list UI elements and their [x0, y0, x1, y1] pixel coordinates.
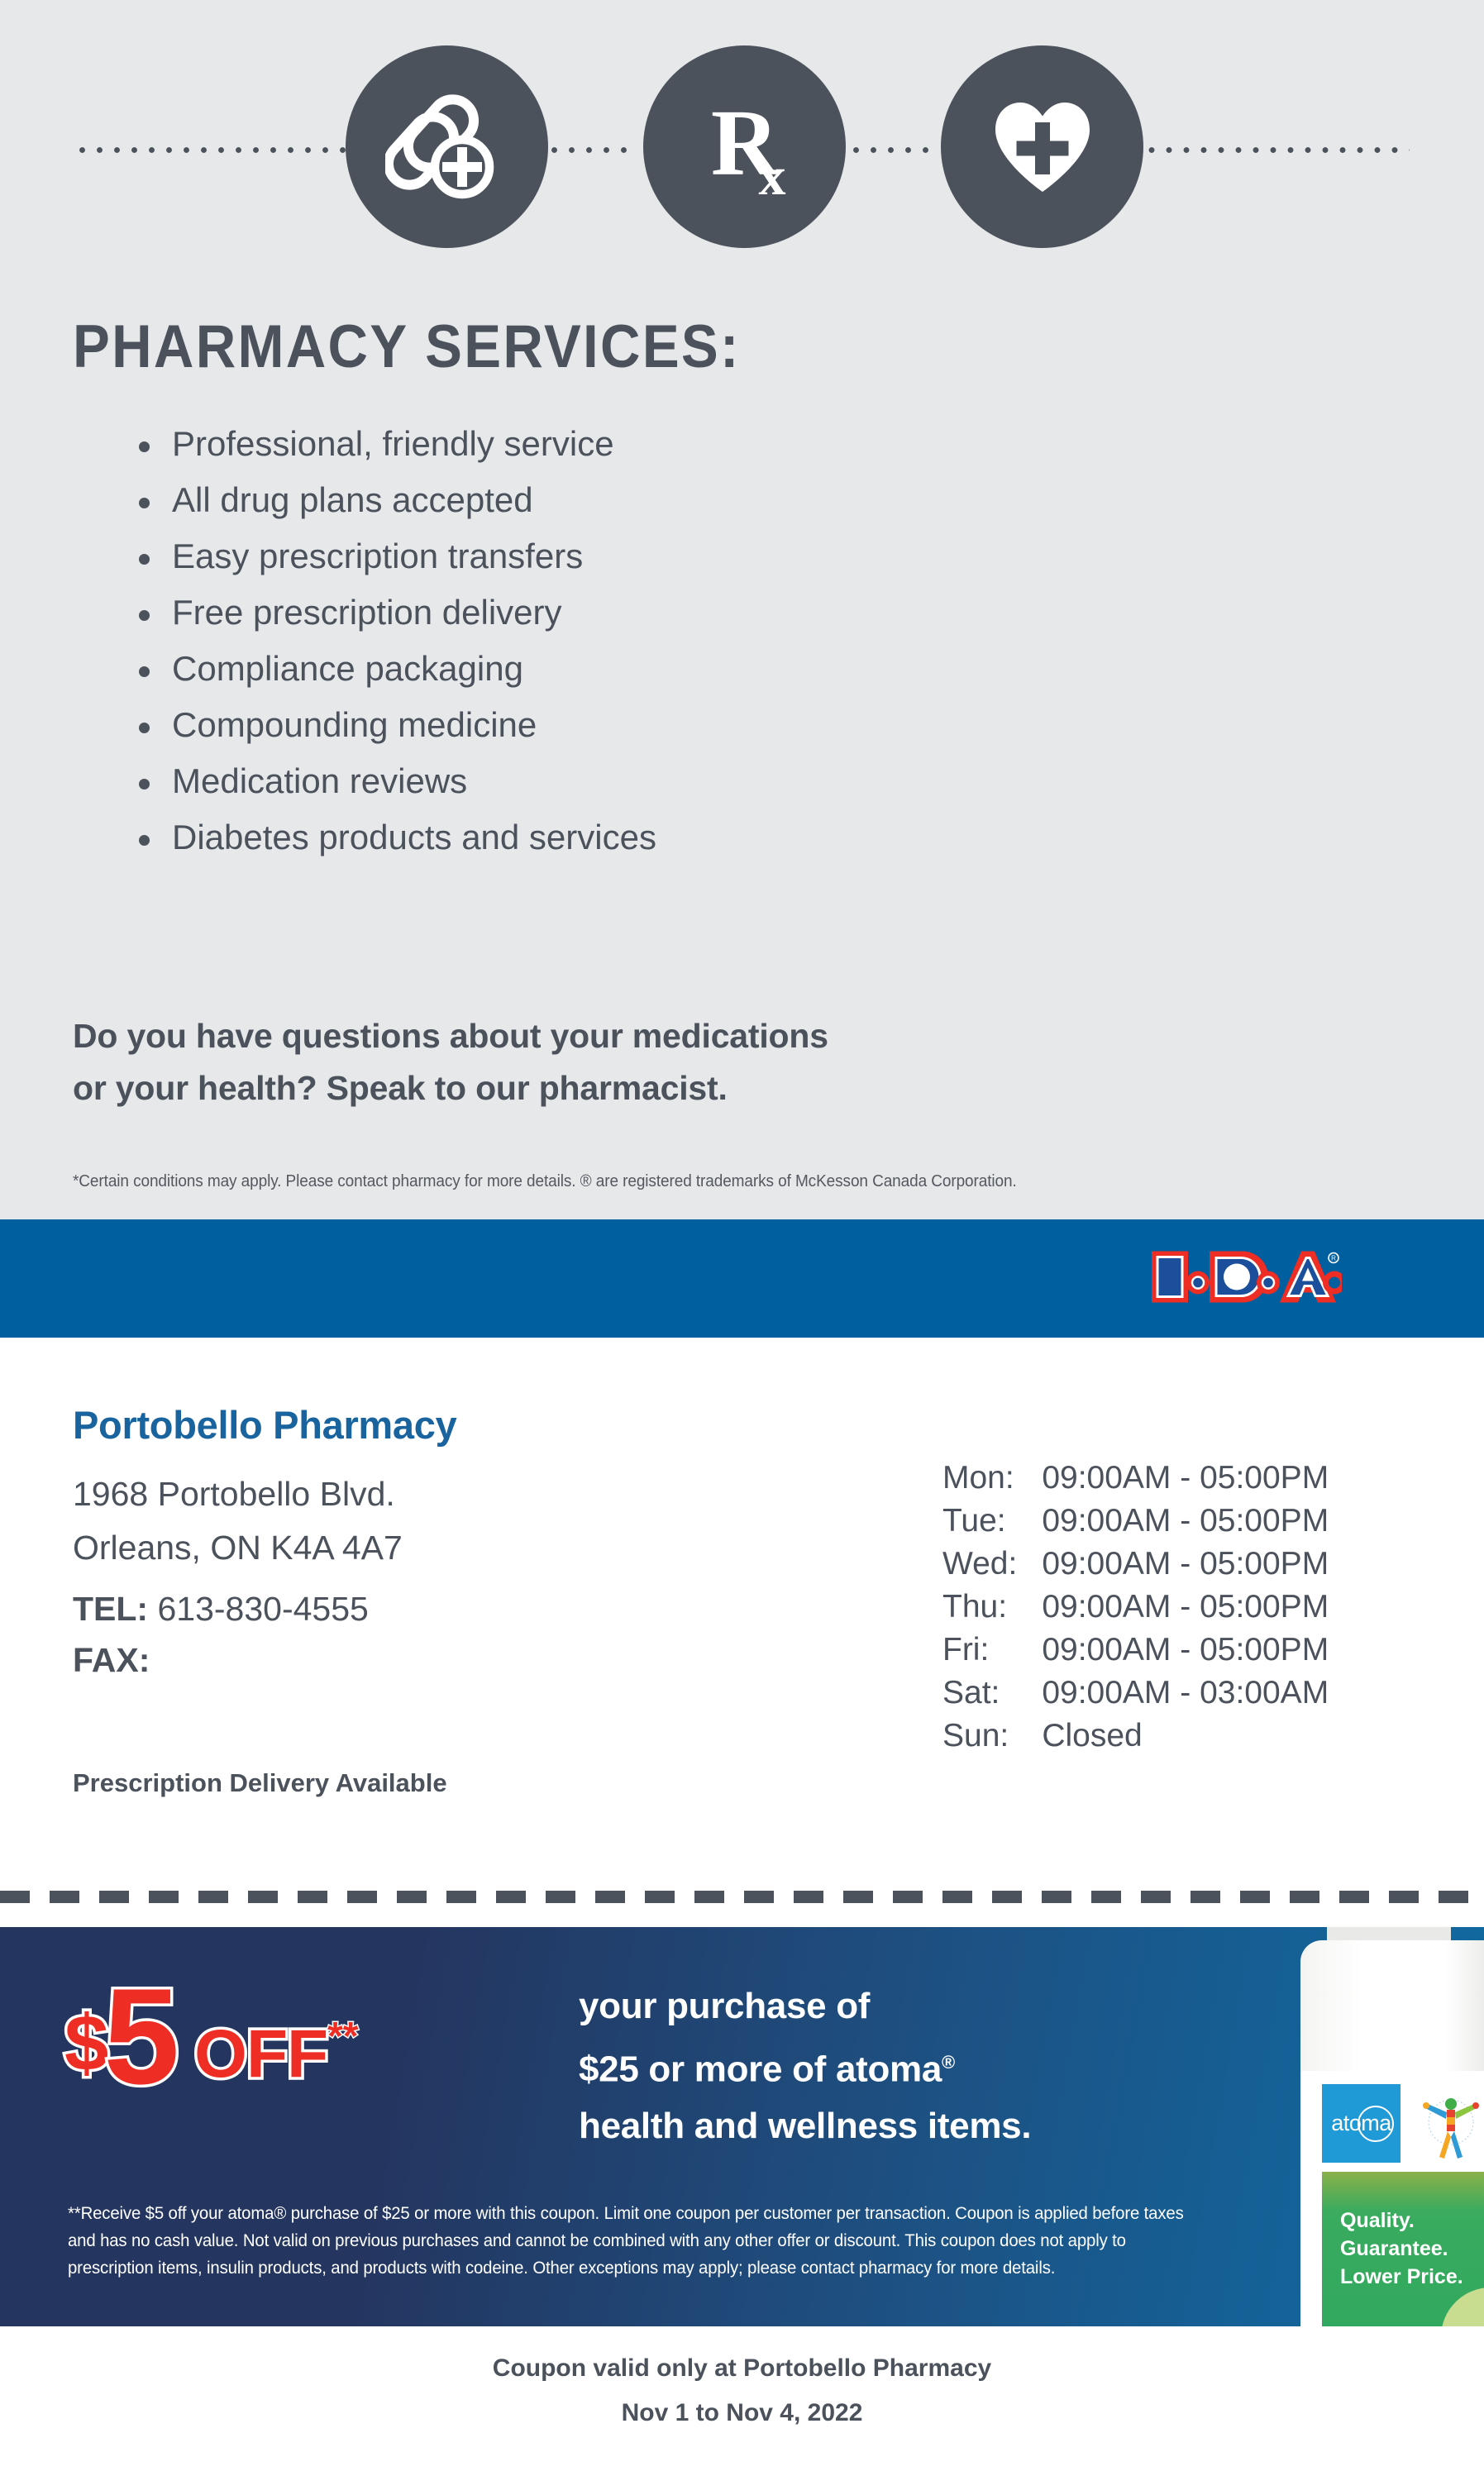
hours-time: Closed: [1042, 1718, 1329, 1761]
dotted-rule-left: [79, 146, 364, 154]
hours-time: 09:00AM - 05:00PM: [1042, 1632, 1329, 1675]
store-info-panel: Portobello Pharmacy 1968 Portobello Blvd…: [0, 1338, 1484, 1891]
hours-time: 09:00AM - 05:00PM: [1042, 1589, 1329, 1632]
atoma-logo-text: atoma: [1331, 2111, 1391, 2136]
table-row: Sat: 09:00AM - 03:00AM: [942, 1675, 1329, 1718]
offer-threshold: $25 or more of: [579, 2049, 836, 2090]
hours-day: Mon:: [942, 1460, 1042, 1503]
dotted-rule-mid-left: [542, 146, 637, 154]
bottle-tagline: Quality. Guarantee. Lower Price.: [1340, 2206, 1463, 2291]
hours-day: Thu:: [942, 1589, 1042, 1632]
pills-icon: [346, 45, 548, 248]
legal-disclaimer: *Certain conditions may apply. Please co…: [73, 1172, 1017, 1191]
heart-plus-icon: [941, 45, 1143, 248]
icon-strip: R x: [0, 45, 1484, 248]
hours-time: 09:00AM - 03:00AM: [1042, 1675, 1329, 1718]
tel-label: TEL:: [73, 1590, 148, 1628]
store-address: 1968 Portobello Blvd. Orleans, ON K4A 4A…: [73, 1467, 403, 1575]
store-hours-table: Mon: 09:00AM - 05:00PM Tue: 09:00AM - 05…: [942, 1460, 1329, 1761]
bottle-decor-circle: [1441, 2288, 1484, 2326]
offer-amount: 5: [103, 1968, 179, 2105]
list-item: All drug plans accepted: [124, 472, 656, 528]
telephone-row: TEL: 613-830-4555: [73, 1583, 369, 1634]
address-line-2: Orleans, ON K4A 4A7: [73, 1521, 403, 1575]
offer-copy-line-1: your purchase of: [579, 1978, 1031, 2035]
callout-line-1: Do you have questions about your medicat…: [73, 1010, 828, 1062]
coupon-offer-amount: $ 5 OFF **: [64, 1968, 358, 2105]
table-row: Sun: Closed: [942, 1718, 1329, 1761]
dotted-rule-mid-right: [843, 146, 938, 154]
atoma-product-image: atoma: [1253, 1927, 1484, 2326]
footer-line-2: Nov 1 to Nov 4, 2022: [0, 2391, 1484, 2435]
list-item: Compliance packaging: [124, 641, 656, 697]
offer-asterisks: **: [327, 2017, 358, 2057]
table-row: Wed: 09:00AM - 05:00PM: [942, 1546, 1329, 1589]
address-line-1: 1968 Portobello Blvd.: [73, 1467, 403, 1521]
table-row: Fri: 09:00AM - 05:00PM: [942, 1632, 1329, 1675]
list-item: Easy prescription transfers: [124, 528, 656, 584]
fax-row: FAX:: [73, 1634, 369, 1686]
svg-text:R: R: [1331, 1254, 1336, 1262]
tagline-line-3: Lower Price.: [1340, 2263, 1463, 2291]
list-item: Professional, friendly service: [124, 416, 656, 472]
registered-mark: ®: [942, 2052, 955, 2073]
brand-band: R: [0, 1219, 1484, 1338]
coupon-offer-copy: your purchase of $25 or more of atoma® h…: [579, 1978, 1031, 2154]
fax-label: FAX:: [73, 1641, 150, 1679]
hours-time: 09:00AM - 05:00PM: [1042, 1503, 1329, 1546]
store-name: Portobello Pharmacy: [73, 1402, 456, 1448]
ida-logo: R: [1150, 1244, 1342, 1313]
list-item: Medication reviews: [124, 753, 656, 809]
list-item: Compounding medicine: [124, 697, 656, 753]
dotted-rule-right: [1137, 146, 1410, 154]
pharmacist-callout: Do you have questions about your medicat…: [73, 1010, 828, 1114]
tagline-line-2: Guarantee.: [1340, 2235, 1463, 2263]
dollar-sign: $: [64, 2004, 108, 2083]
callout-line-2: or your health? Speak to our pharmacist.: [73, 1062, 828, 1114]
vitruvian-figure-icon: [1416, 2086, 1484, 2165]
table-row: Mon: 09:00AM - 05:00PM: [942, 1460, 1329, 1503]
hours-day: Tue:: [942, 1503, 1042, 1546]
hours-day: Sun:: [942, 1718, 1042, 1761]
page-title: PHARMACY SERVICES:: [73, 312, 741, 381]
table-row: Tue: 09:00AM - 05:00PM: [942, 1503, 1329, 1546]
hours-day: Wed:: [942, 1546, 1042, 1589]
svg-text:x: x: [758, 146, 785, 207]
offer-off-word: OFF: [194, 2020, 327, 2088]
coupon-validity-footer: Coupon valid only at Portobello Pharmacy…: [0, 2346, 1484, 2435]
bottle-label: atoma: [1300, 2071, 1484, 2326]
store-contact: TEL: 613-830-4555 FAX:: [73, 1583, 369, 1686]
atoma-logo-icon: atoma: [1322, 2084, 1400, 2163]
atoma-brand-name: atoma: [836, 2049, 942, 2090]
hours-day: Fri:: [942, 1632, 1042, 1675]
list-item: Free prescription delivery: [124, 584, 656, 641]
coupon-panel: $ 5 OFF ** your purchase of $25 or more …: [0, 1927, 1484, 2326]
offer-copy-line-3: health and wellness items.: [579, 2098, 1031, 2154]
offer-copy-line-2: $25 or more of atoma®: [579, 2035, 1031, 2098]
tel-value: 613-830-4555: [158, 1590, 369, 1628]
hours-day: Sat:: [942, 1675, 1042, 1718]
list-item: Diabetes products and services: [124, 809, 656, 866]
pharmacy-services-panel: R x PHARMACY SERVICES: Professional, fri…: [0, 0, 1484, 1219]
hours-time: 09:00AM - 05:00PM: [1042, 1546, 1329, 1589]
bottle-tagline-band: Quality. Guarantee. Lower Price.: [1322, 2172, 1484, 2326]
coupon-cut-line: [0, 1891, 1484, 1903]
services-list: Professional, friendly service All drug …: [124, 416, 656, 866]
tagline-line-1: Quality.: [1340, 2206, 1463, 2235]
coupon-fine-print: **Receive $5 off your atoma® purchase of…: [68, 2200, 1206, 2282]
delivery-note: Prescription Delivery Available: [73, 1768, 447, 1798]
footer-line-1: Coupon valid only at Portobello Pharmacy: [0, 2346, 1484, 2391]
table-row: Thu: 09:00AM - 05:00PM: [942, 1589, 1329, 1632]
hours-time: 09:00AM - 05:00PM: [1042, 1460, 1329, 1503]
rx-icon: R x: [643, 45, 846, 248]
